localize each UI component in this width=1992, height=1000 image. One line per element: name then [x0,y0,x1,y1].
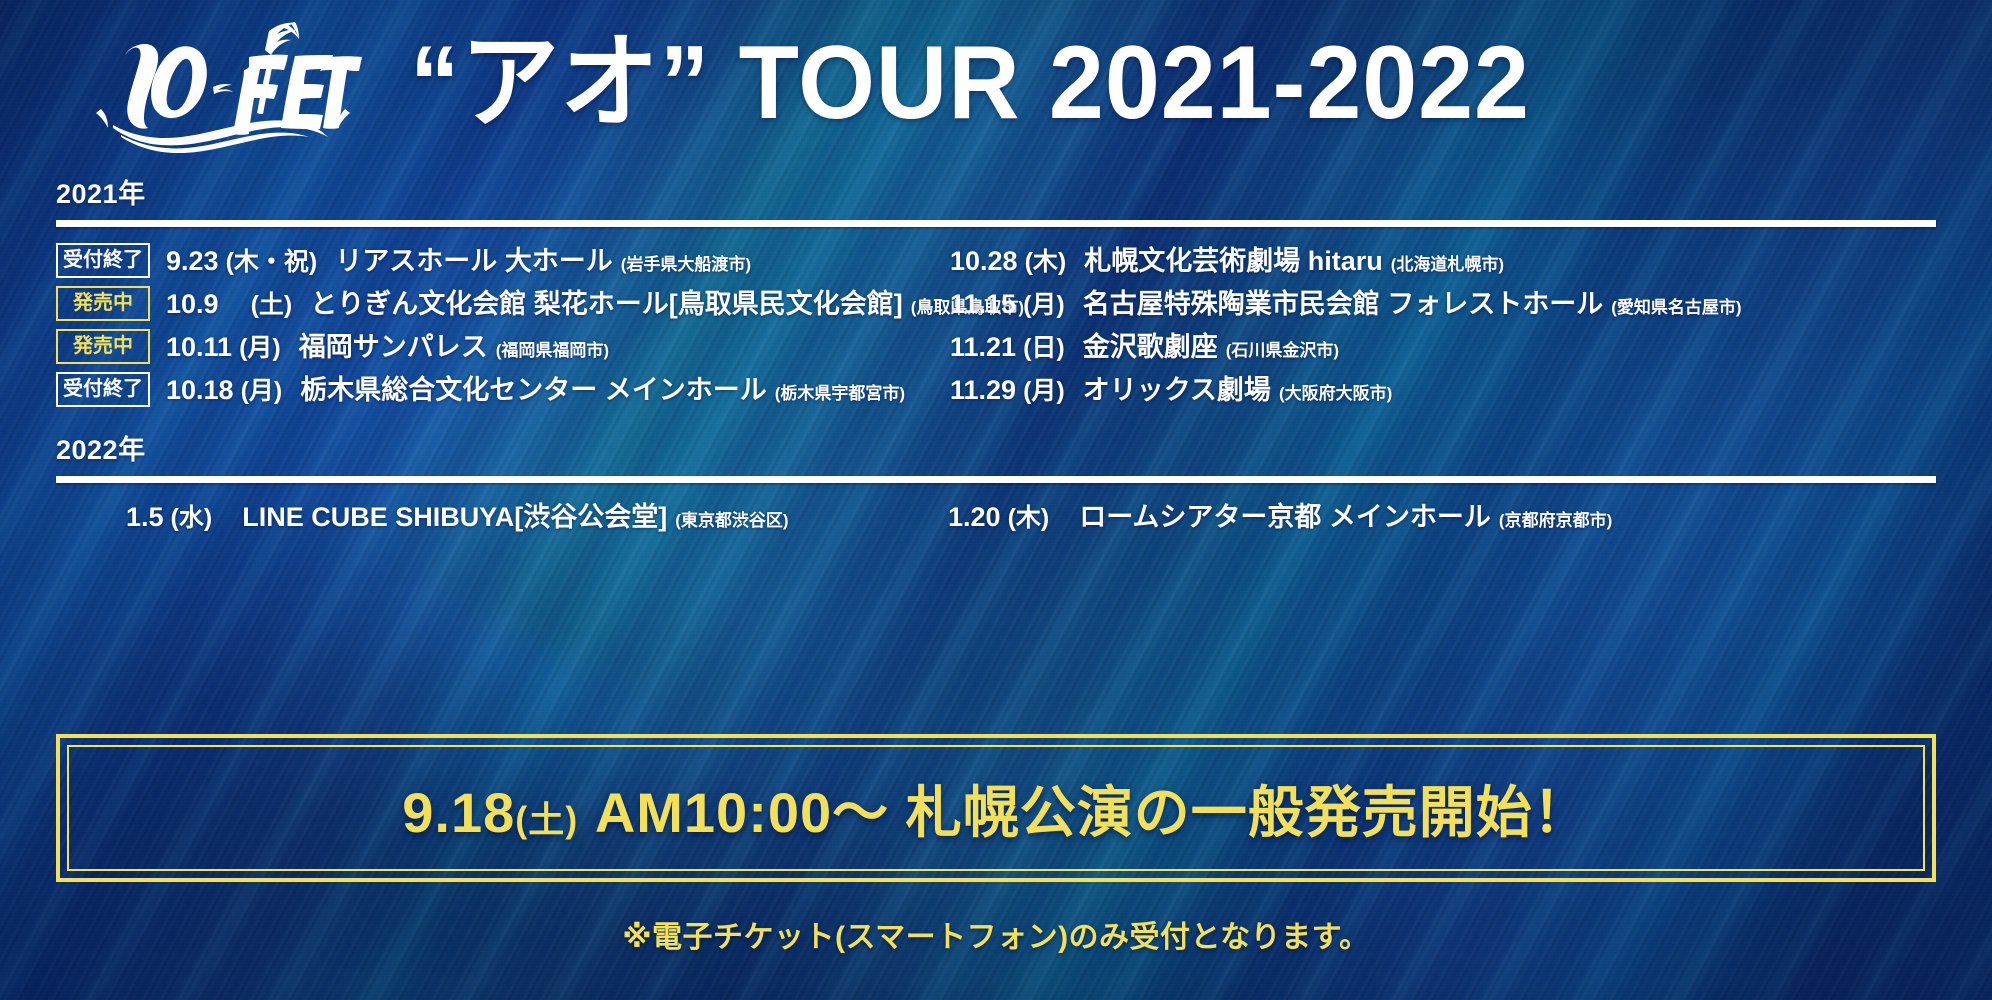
show-weekday: (木・祝) [226,242,318,278]
date-entry-left[interactable]: 受付終了 9.23 (木・祝) リアスホール 大ホール (岩手県大船渡市) [56,239,906,282]
venue-city: (栃木県宇都宮市) [775,379,905,404]
date-entry-right[interactable]: 10.28 (木) 札幌文化芸術劇場 hitaru (北海道札幌市) [906,239,1952,278]
status-badge: 受付終了 [56,372,150,407]
venue-city: (東京都渋谷区) [675,506,788,531]
year-label-2022: 2022年 [56,428,1992,467]
table-row: 受付終了 9.23 (木・祝) リアスホール 大ホール (岩手県大船渡市) 10… [56,239,1952,282]
venue-city: (大阪府大阪市) [1279,379,1392,404]
announcement-message: 札幌公演の一般発売開始！ [906,781,1590,844]
venue-name: 金沢歌劇座 [1083,325,1218,364]
show-date: 11.29 [950,375,1016,406]
date-entry-right[interactable]: 1.20 (木) ロームシアター京都 メインホール (京都府京都市) [906,495,1952,534]
venue-name: 福岡サンパレス [299,325,488,364]
table-row: 発売中 10.9 (土) とりぎん文化会館 梨花ホール[鳥取県民文化会館] (鳥… [56,282,1952,325]
show-weekday: (水) [171,498,213,534]
show-weekday: (日) [1023,328,1065,364]
show-weekday: (月) [1023,371,1065,407]
show-date: 11.21 [950,332,1016,363]
year-section-2022: 2022年 1.5 (水) LINE CUBE SHIBUYA[渋谷公会堂] (… [0,428,1992,538]
date-entry-right[interactable]: 11.15 (月) 名古屋特殊陶業市民会館 フォレストホール (愛知県名古屋市) [906,282,1952,321]
show-date: 9.23 [166,246,219,277]
venue-city: (石川県金沢市) [1226,336,1339,361]
year-divider-2022 [56,476,1936,483]
status-badge: 受付終了 [56,243,150,278]
venue-name: ロームシアター京都 メインホール [1079,495,1491,534]
show-weekday: (木) [1008,498,1050,534]
venue-name: オリックス劇場 [1083,368,1271,407]
show-date: 10.11 [166,332,232,363]
show-weekday: (月) [241,371,283,407]
venue-city: (岩手県大船渡市) [621,250,751,275]
show-weekday: (月) [1023,285,1065,321]
year-section-2021: 2021年 受付終了 9.23 (木・祝) リアスホール 大ホール (岩手県大船… [0,172,1992,411]
venue-name: LINE CUBE SHIBUYA[渋谷公会堂] [242,495,667,534]
tour-title: “アオ” TOUR 2021-2022 [410,31,1913,135]
announcement-banner: 9.18(土) AM10:00〜 札幌公演の一般発売開始！ [56,734,1936,882]
show-date: 10.28 [950,246,1018,277]
show-date: 1.5 [126,502,164,533]
announcement-inner-border: 9.18(土) AM10:00〜 札幌公演の一般発売開始！ [67,745,1925,871]
year-divider-2021 [56,220,1936,227]
show-date: 10.18 [166,375,234,406]
table-row: 受付終了 10.18 (月) 栃木県総合文化センター メインホール (栃木県宇都… [56,368,1952,411]
show-date: 1.20 [948,502,1001,533]
table-row: 1.5 (水) LINE CUBE SHIBUYA[渋谷公会堂] (東京都渋谷区… [56,495,1952,538]
date-entry-right[interactable]: 11.29 (月) オリックス劇場 (大阪府大阪市) [906,368,1952,407]
announcement-weekday: (土) [515,799,578,840]
date-entry-left[interactable]: 受付終了 10.18 (月) 栃木県総合文化センター メインホール (栃木県宇都… [56,368,906,411]
show-weekday: (土) [226,285,293,321]
venue-name: 札幌文化芸術劇場 hitaru [1084,239,1383,278]
venue-name: 名古屋特殊陶業市民会館 フォレストホール [1083,282,1604,321]
venue-name: とりぎん文化会館 梨花ホール[鳥取県民文化会館] [310,282,902,321]
year-label-2021: 2021年 [56,172,1992,211]
announcement-text: 9.18(土) AM10:00〜 札幌公演の一般発売開始！ [402,768,1589,849]
date-rows-2022: 1.5 (水) LINE CUBE SHIBUYA[渋谷公会堂] (東京都渋谷区… [0,495,1992,538]
band-logo-10-feet [58,8,388,158]
show-date: 11.15 [950,289,1016,320]
venue-city: (愛知県名古屋市) [1611,293,1741,318]
date-rows-2021: 受付終了 9.23 (木・祝) リアスホール 大ホール (岩手県大船渡市) 10… [0,239,1992,411]
announcement-date: 9.18 [402,781,515,844]
table-row: 発売中 10.11 (月) 福岡サンパレス (福岡県福岡市) 11.21 (日)… [56,325,1952,368]
venue-city: (京都府京都市) [1499,506,1612,531]
status-badge: 発売中 [56,329,150,364]
footnote-text: ※電子チケット(スマートフォン)のみ受付となります。 [0,912,1992,956]
show-weekday: (月) [239,328,281,364]
venue-city: (北海道札幌市) [1391,250,1504,275]
date-entry-left[interactable]: 1.5 (水) LINE CUBE SHIBUYA[渋谷公会堂] (東京都渋谷区… [56,495,906,534]
tour-poster: “アオ” TOUR 2021-2022 2021年 受付終了 9.23 (木・祝… [0,0,1992,1000]
venue-name: リアスホール 大ホール [335,239,613,278]
date-entry-left[interactable]: 発売中 10.11 (月) 福岡サンパレス (福岡県福岡市) [56,325,906,368]
date-entry-right[interactable]: 11.21 (日) 金沢歌劇座 (石川県金沢市) [906,325,1952,364]
venue-name: 栃木県総合文化センター メインホール [300,368,767,407]
date-entry-left[interactable]: 発売中 10.9 (土) とりぎん文化会館 梨花ホール[鳥取県民文化会館] (鳥… [56,282,906,325]
show-weekday: (木) [1025,242,1067,278]
announcement-time: AM10:00〜 [578,781,905,844]
status-badge: 発売中 [56,286,150,321]
poster-header: “アオ” TOUR 2021-2022 [0,0,1992,166]
venue-city: (福岡県福岡市) [496,336,609,361]
show-date: 10.9 [166,289,219,320]
